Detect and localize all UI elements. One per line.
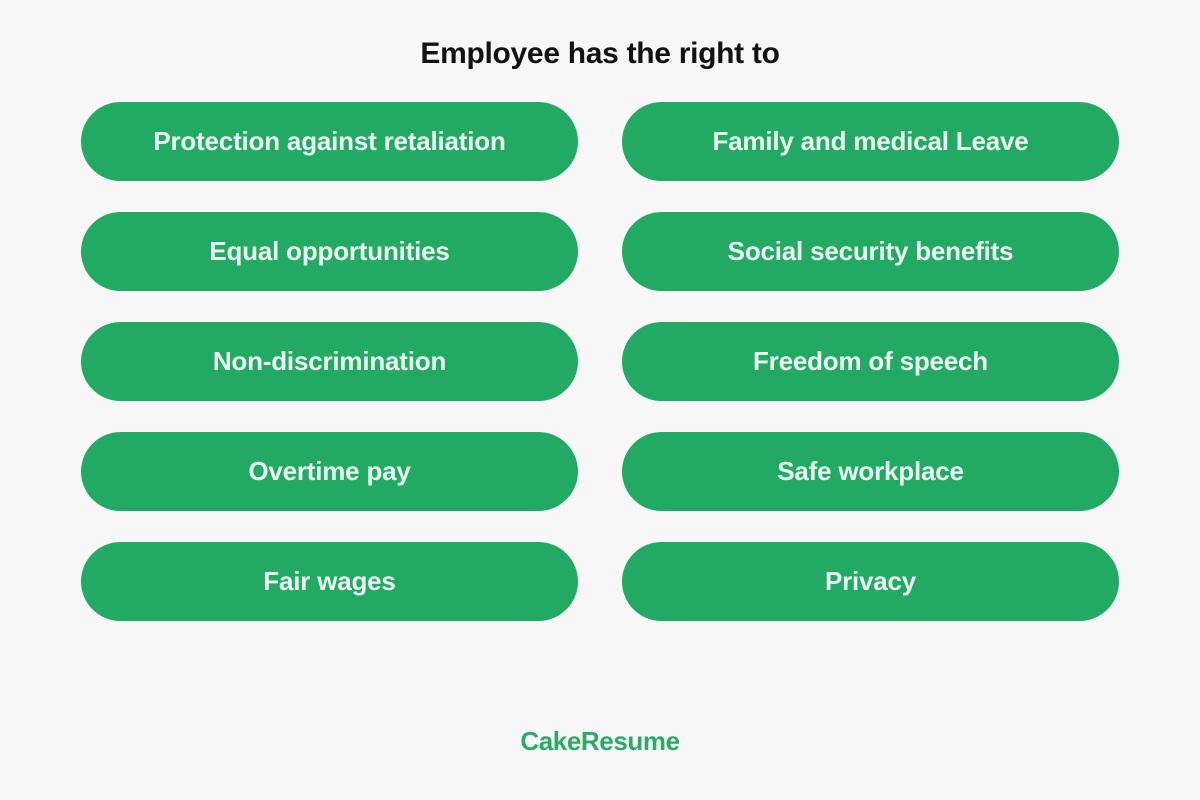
rights-pill-label: Fair wages [263, 567, 395, 596]
rights-pill-label: Overtime pay [248, 457, 410, 486]
rights-pill-label: Privacy [825, 567, 916, 596]
rights-pill-left-2: Equal opportunities [81, 212, 578, 291]
rights-pill-label: Social security benefits [728, 237, 1014, 266]
rights-pill-label: Safe workplace [777, 457, 964, 486]
page-title: Employee has the right to [420, 36, 779, 72]
rights-pill-label: Family and medical Leave [712, 127, 1028, 156]
rights-pill-left-5: Fair wages [81, 542, 578, 621]
cakeresume-logo: CakeResume [520, 726, 679, 757]
rights-pill-right-1: Family and medical Leave [622, 102, 1119, 181]
rights-pill-left-3: Non-discrimination [81, 322, 578, 401]
rights-pill-right-3: Freedom of speech [622, 322, 1119, 401]
rights-pill-left-1: Protection against retaliation [81, 102, 578, 181]
rights-pill-label: Equal opportunities [209, 237, 449, 266]
rights-pill-grid: Protection against retaliation Equal opp… [81, 102, 1119, 621]
infographic-canvas: Employee has the right to Protection aga… [0, 0, 1200, 800]
rights-pill-right-4: Safe workplace [622, 432, 1119, 511]
rights-pill-label: Freedom of speech [753, 347, 988, 376]
rights-pill-label: Non-discrimination [213, 347, 446, 376]
rights-pill-right-2: Social security benefits [622, 212, 1119, 291]
rights-pill-label: Protection against retaliation [153, 127, 505, 156]
rights-pill-left-4: Overtime pay [81, 432, 578, 511]
footer: CakeResume [0, 726, 1200, 757]
rights-pill-right-5: Privacy [622, 542, 1119, 621]
